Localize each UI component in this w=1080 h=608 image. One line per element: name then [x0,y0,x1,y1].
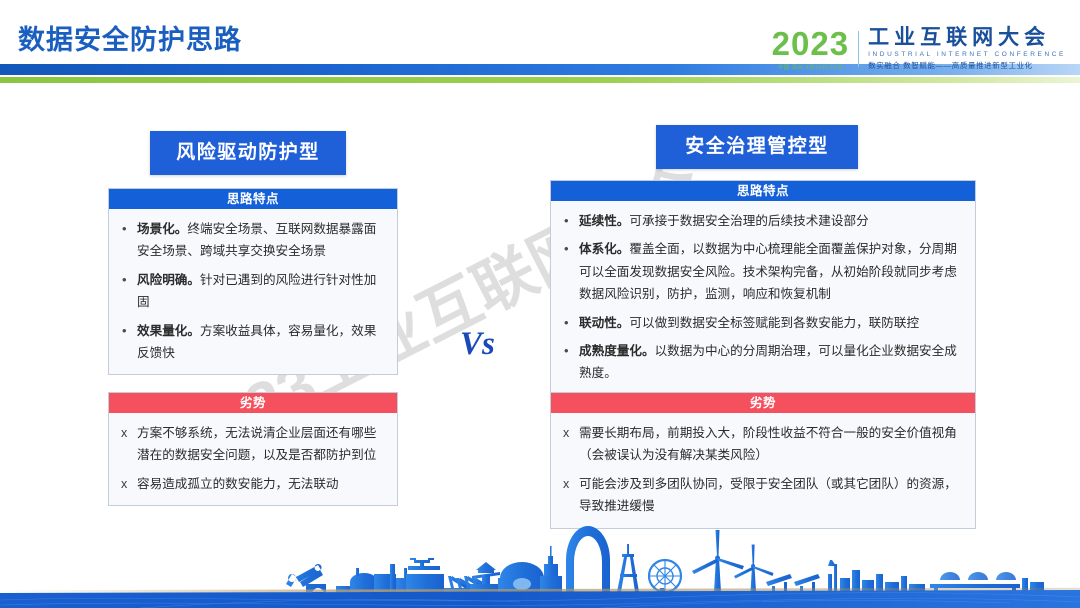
logo-year-subtitle: 中国·苏州 8月14日-16日 [778,63,843,71]
conference-logo: 2023 中国·苏州 8月14日-16日 工业互联网大会 INDUSTRIAL … [772,26,1066,72]
logo-year: 2023 [772,27,849,60]
slide-root: 数据安全防护思路 2023 中国·苏州 8月14日-16日 工业互联网大会 IN… [0,0,1080,608]
versus-label: Vs [460,326,495,363]
right-pros-list: 延续性。可承接于数据安全治理的后续技术建设部分 体系化。覆盖全面，以数据为中心梳… [561,210,963,385]
list-item: 可能会涉及到多团队协同，受限于安全团队（或其它团队）的资源，导致推进缓慢 [561,473,963,518]
left-cons-card: 劣势 方案不够系统，无法说清企业层面还有哪些潜在的数据安全问题，以及是否都防护到… [108,392,398,506]
left-cons-header: 劣势 [109,393,397,413]
skyline-silhouette [286,526,1044,600]
list-item: 效果量化。方案收益具体，容易量化，效果反馈快 [119,320,385,365]
item-lead: 成熟度量化。 [579,344,655,358]
right-pros-card: 思路特点 延续性。可承接于数据安全治理的后续技术建设部分 体系化。覆盖全面，以数… [550,180,976,396]
right-cons-header: 劣势 [551,393,975,413]
item-lead: 延续性。 [579,214,629,228]
item-lead: 体系化。 [579,242,629,256]
item-text: 可能会涉及到多团队协同，受限于安全团队（或其它团队）的资源，导致推进缓慢 [579,477,957,513]
list-item: 延续性。可承接于数据安全治理的后续技术建设部分 [561,210,963,232]
item-text: 方案不够系统，无法说清企业层面还有哪些潜在的数据安全问题，以及是否都防护到位 [137,426,376,462]
list-item: 风险明确。针对已遇到的风险进行针对性加固 [119,269,385,314]
left-cons-list: 方案不够系统，无法说清企业层面还有哪些潜在的数据安全问题，以及是否都防护到位 容… [119,422,385,495]
left-pros-list: 场景化。终端安全场景、互联网数据暴露面安全场景、跨域共享交换安全场景 风险明确。… [119,218,385,364]
item-lead: 场景化。 [137,222,187,236]
right-type-heading: 安全治理管控型 [656,125,858,169]
list-item: 联动性。可以做到数据安全标签赋能到各数安能力，联防联控 [561,312,963,334]
logo-year-block: 2023 中国·苏州 8月14日-16日 [772,27,858,71]
list-item: 方案不够系统，无法说清企业层面还有哪些潜在的数据安全问题，以及是否都防护到位 [119,422,385,467]
left-type-heading: 风险驱动防护型 [150,131,346,175]
list-item: 成熟度量化。以数据为中心的分周期治理，可以量化企业数据安全成熟度。 [561,340,963,385]
page-title: 数据安全防护思路 [18,18,242,57]
header-rule-green [0,77,1080,83]
right-cons-card: 劣势 需要长期布局，前期投入大，阶段性收益不符合一般的安全价值视角（会被误认为没… [550,392,976,529]
item-text: 覆盖全面，以数据为中心梳理能全面覆盖保护对象，分周期可以全面发现数据安全风险。技… [579,242,957,301]
logo-name-en: INDUSTRIAL INTERNET CONFERENCE [868,51,1066,58]
list-item: 需要长期布局，前期投入大，阶段性收益不符合一般的安全价值视角（会被误认为没有解决… [561,422,963,467]
horizon-line [0,589,1080,592]
left-pros-body: 场景化。终端安全场景、互联网数据暴露面安全场景、跨域共享交换安全场景 风险明确。… [109,209,397,374]
footer-wave [0,590,1080,608]
list-item: 场景化。终端安全场景、互联网数据暴露面安全场景、跨域共享交换安全场景 [119,218,385,263]
right-cons-list: 需要长期布局，前期投入大，阶段性收益不符合一般的安全价值视角（会被误认为没有解决… [561,422,963,518]
right-pros-header: 思路特点 [551,181,975,201]
item-text: 需要长期布局，前期投入大，阶段性收益不符合一般的安全价值视角（会被误认为没有解决… [579,426,957,462]
left-cons-body: 方案不够系统，无法说清企业层面还有哪些潜在的数据安全问题，以及是否都防护到位 容… [109,413,397,505]
logo-name-block: 工业互联网大会 INDUSTRIAL INTERNET CONFERENCE 数… [859,27,1066,70]
left-pros-card: 思路特点 场景化。终端安全场景、互联网数据暴露面安全场景、跨域共享交换安全场景 … [108,188,398,375]
list-item: 容易造成孤立的数安能力，无法联动 [119,473,385,495]
item-text: 容易造成孤立的数安能力，无法联动 [137,477,339,491]
item-text: 可以做到数据安全标签赋能到各数安能力，联防联控 [629,316,919,330]
item-text: 可承接于数据安全治理的后续技术建设部分 [629,214,868,228]
footer-skyline-illustration [0,518,1080,608]
item-lead: 风险明确。 [137,273,200,287]
right-cons-body: 需要长期布局，前期投入大，阶段性收益不符合一般的安全价值视角（会被误认为没有解决… [551,413,975,528]
item-lead: 效果量化。 [137,324,200,338]
right-pros-body: 延续性。可承接于数据安全治理的后续技术建设部分 体系化。覆盖全面，以数据为中心梳… [551,201,975,395]
list-item: 体系化。覆盖全面，以数据为中心梳理能全面覆盖保护对象，分周期可以全面发现数据安全… [561,238,963,305]
left-pros-header: 思路特点 [109,189,397,209]
logo-name-cn: 工业互联网大会 [868,27,1066,49]
footer-wave-lines [0,593,1080,608]
item-lead: 联动性。 [579,316,629,330]
logo-slogan: 数实融合 数智赋能——高质量推进新型工业化 [868,60,1066,71]
